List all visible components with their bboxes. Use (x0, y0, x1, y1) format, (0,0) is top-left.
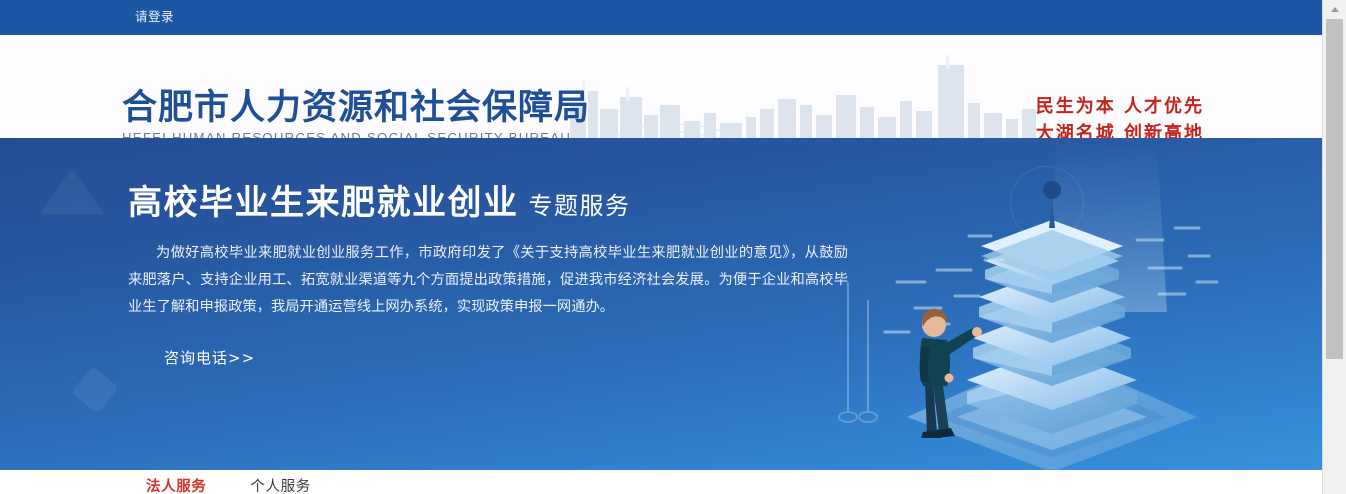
antenna-pin (1043, 181, 1061, 228)
site-logo[interactable]: 合肥市人力资源和社会保障局 HEFEI HUMAN RESOURCES AND … (122, 88, 590, 138)
site-header: 合肥市人力资源和社会保障局 HEFEI HUMAN RESOURCES AND … (0, 35, 1322, 138)
browser-page: 请登录 (0, 0, 1346, 494)
banner-title-main: 高校毕业生来肥就业创业 (128, 183, 519, 223)
chevron-up-icon (1331, 7, 1339, 12)
scroll-up-button[interactable] (1323, 0, 1346, 18)
slogan-line-2: 大湖名城 创新高地 (1036, 120, 1204, 138)
isometric-data-center-illustration (837, 138, 1267, 470)
header-slogan: 民生为本 人才优先 大湖名城 创新高地 (1036, 93, 1204, 138)
city-skyline-watermark (560, 43, 1040, 138)
hero-banner: 高校毕业生来肥就业创业专题服务 为做好高校毕业来肥就业创业服务工作，市政府印发了… (0, 138, 1322, 470)
decorative-arcs (585, 90, 765, 138)
logo-title-cn: 合肥市人力资源和社会保障局 (122, 88, 590, 128)
logo-title-en: HEFEI HUMAN RESOURCES AND SOCIAL SECURIT… (122, 129, 590, 138)
person-figure (920, 309, 982, 438)
service-content-strip: 法人服务 个人服务 (0, 470, 1322, 494)
scrollbar-thumb[interactable] (1326, 19, 1343, 359)
banner-paragraph: 为做好高校毕业来肥就业创业服务工作，市政府印发了《关于支持高校毕业生来肥就业创业… (128, 240, 848, 321)
banner-title-sub: 专题服务 (529, 192, 631, 220)
consultation-phone-link[interactable]: 咨询电话>> (164, 347, 255, 368)
decor-diamond (71, 366, 119, 414)
service-tab-list: 法人服务 个人服务 (146, 479, 311, 494)
tab-individual-service[interactable]: 个人服务 (250, 479, 310, 494)
page-viewport: 请登录 (0, 0, 1322, 494)
login-link[interactable]: 请登录 (135, 11, 174, 24)
tab-legal-person-service[interactable]: 法人服务 (146, 479, 206, 494)
slogan-line-1: 民生为本 人才优先 (1036, 93, 1204, 120)
decor-triangle (40, 168, 104, 214)
banner-copy: 高校毕业生来肥就业创业专题服务 为做好高校毕业来肥就业创业服务工作，市政府印发了… (128, 180, 868, 368)
decor-ring (1010, 166, 1084, 240)
banner-title: 高校毕业生来肥就业创业专题服务 (128, 180, 868, 232)
top-utility-bar: 请登录 (0, 0, 1322, 35)
vertical-scrollbar[interactable] (1322, 0, 1346, 494)
